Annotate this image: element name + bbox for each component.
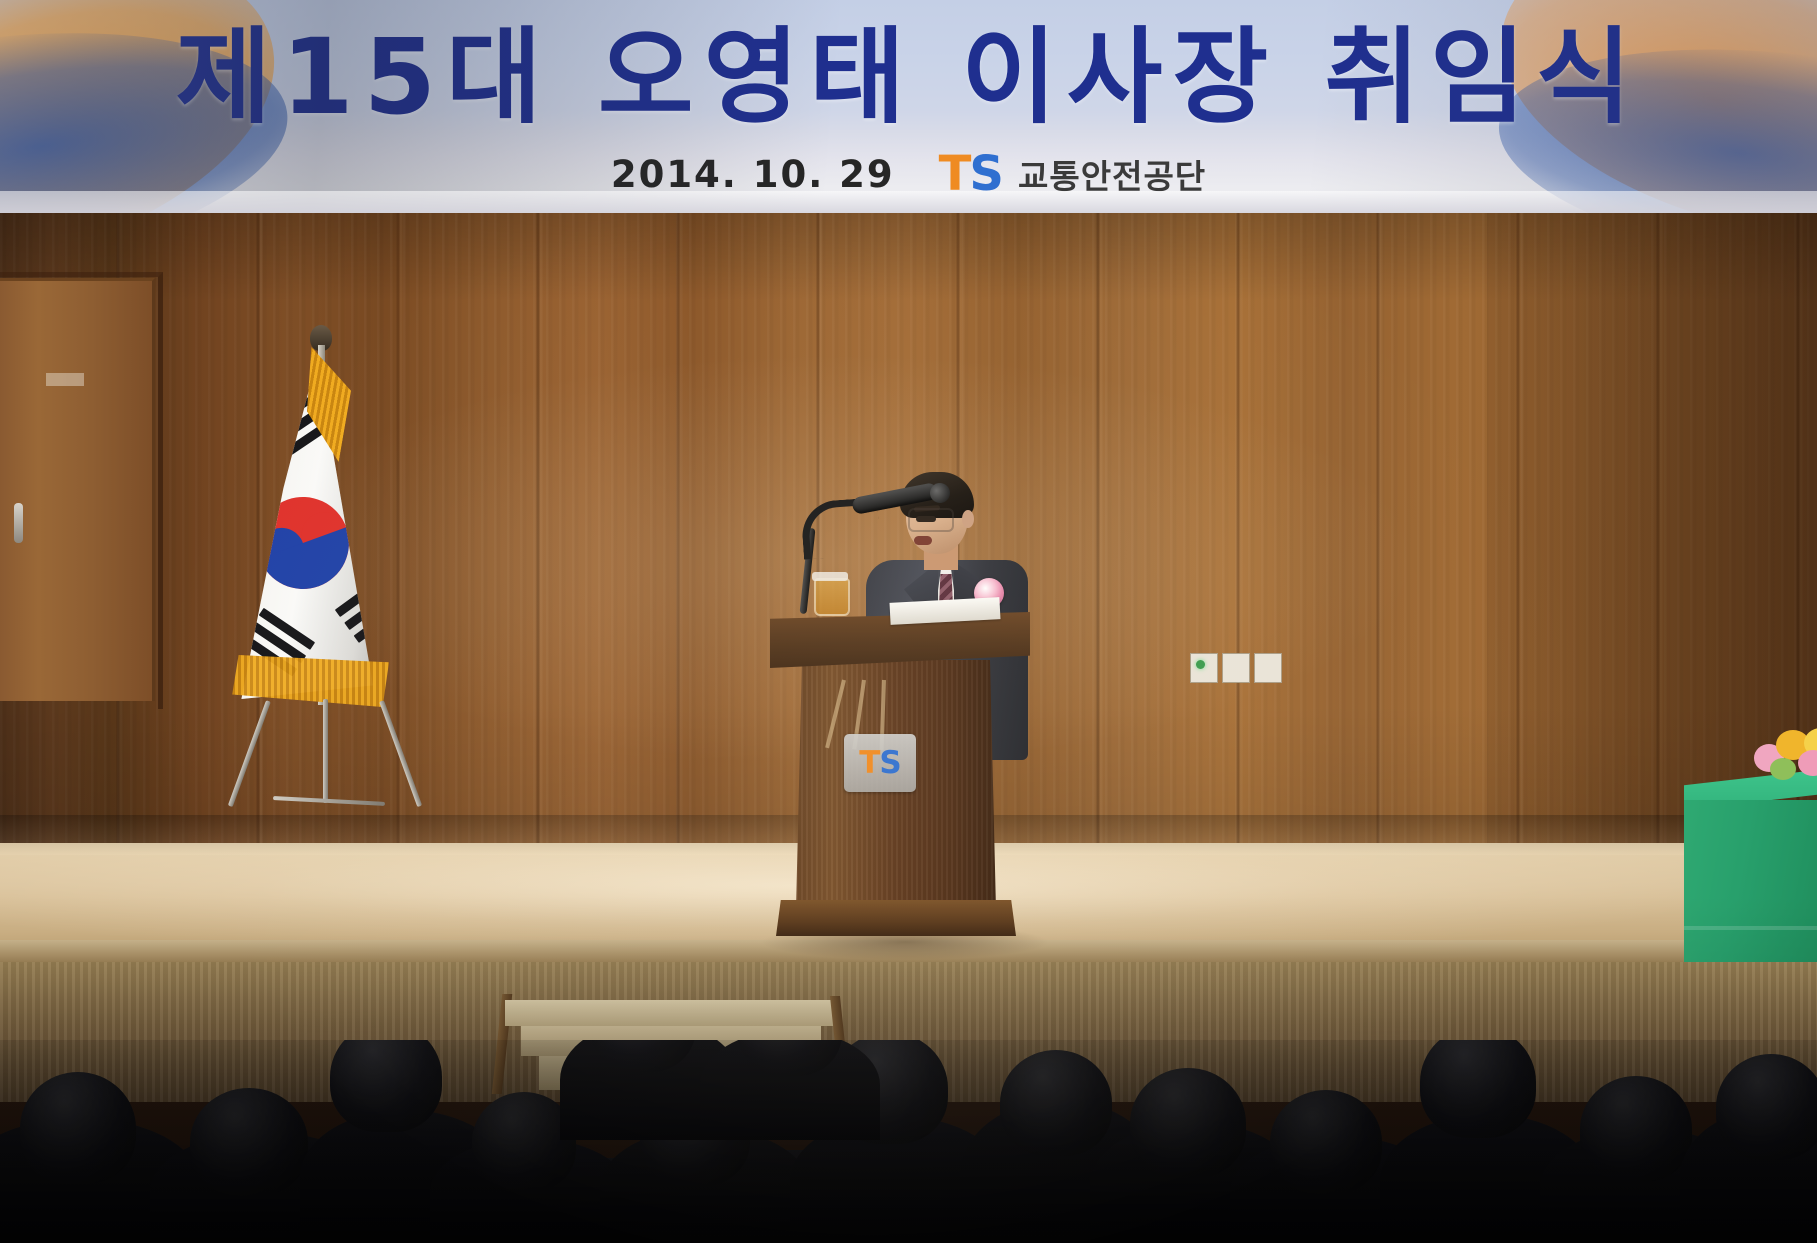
wall-outlet-indicator-icon (1196, 660, 1205, 669)
table-drape-fold (1684, 926, 1817, 930)
audience-area (0, 1040, 1817, 1243)
speaker-ear (962, 510, 974, 528)
audience-head (1580, 1076, 1692, 1182)
flag-tripod-stand (261, 695, 431, 811)
korean-flag-group (255, 325, 435, 805)
podium-logo-plaque: TS (844, 734, 916, 792)
wall-outlet-1 (1190, 653, 1218, 683)
audience-head (1130, 1068, 1246, 1178)
door-sign (46, 373, 84, 386)
event-banner: 제15대 오영태 이사장 취임식 2014. 10. 29 TS 교통안전공단 (0, 0, 1817, 213)
flower-leaf-1 (1770, 758, 1796, 780)
banner-bottom-edge (0, 191, 1817, 213)
audience-head (20, 1072, 136, 1184)
podium-ts-logo-icon: TS (859, 748, 900, 779)
flower-arrangement (1754, 728, 1817, 790)
podium: TS (770, 612, 1030, 960)
audience-head (1716, 1054, 1817, 1160)
photo-scene: 제15대 오영태 이사장 취임식 2014. 10. 29 TS 교통안전공단 (0, 0, 1817, 1243)
podium-body: TS (796, 660, 996, 910)
stage-step-1 (505, 1000, 835, 1026)
stage-side-door (0, 278, 155, 701)
flower-pink-2 (1798, 750, 1817, 776)
tripod-leg-right (379, 700, 422, 807)
podium-logo-letter-t: T (859, 745, 879, 781)
audience-head (1420, 1040, 1536, 1138)
audience-head (1270, 1090, 1382, 1194)
trigram-gon (335, 573, 373, 648)
podium-logo-letter-s: S (879, 745, 900, 781)
taeguk-lobe-red (295, 506, 354, 565)
microphone (780, 484, 910, 616)
speaker-glasses (908, 508, 954, 532)
audience-head (1000, 1050, 1112, 1156)
audience-head (190, 1088, 308, 1196)
audience-head (330, 1040, 442, 1132)
tripod-crossbar (273, 796, 385, 806)
speaker-mouth (914, 536, 932, 545)
podium-base (776, 900, 1016, 936)
banner-title: 제15대 오영태 이사장 취임식 (0, 10, 1817, 144)
wall-outlet-2 (1222, 653, 1250, 683)
wall-outlet-3 (1254, 653, 1282, 683)
door-handle (14, 503, 23, 543)
taeguk-circle-icon (244, 484, 362, 602)
banner-date: 2014. 10. 29 (611, 153, 895, 196)
tripod-leg-center (323, 699, 328, 803)
